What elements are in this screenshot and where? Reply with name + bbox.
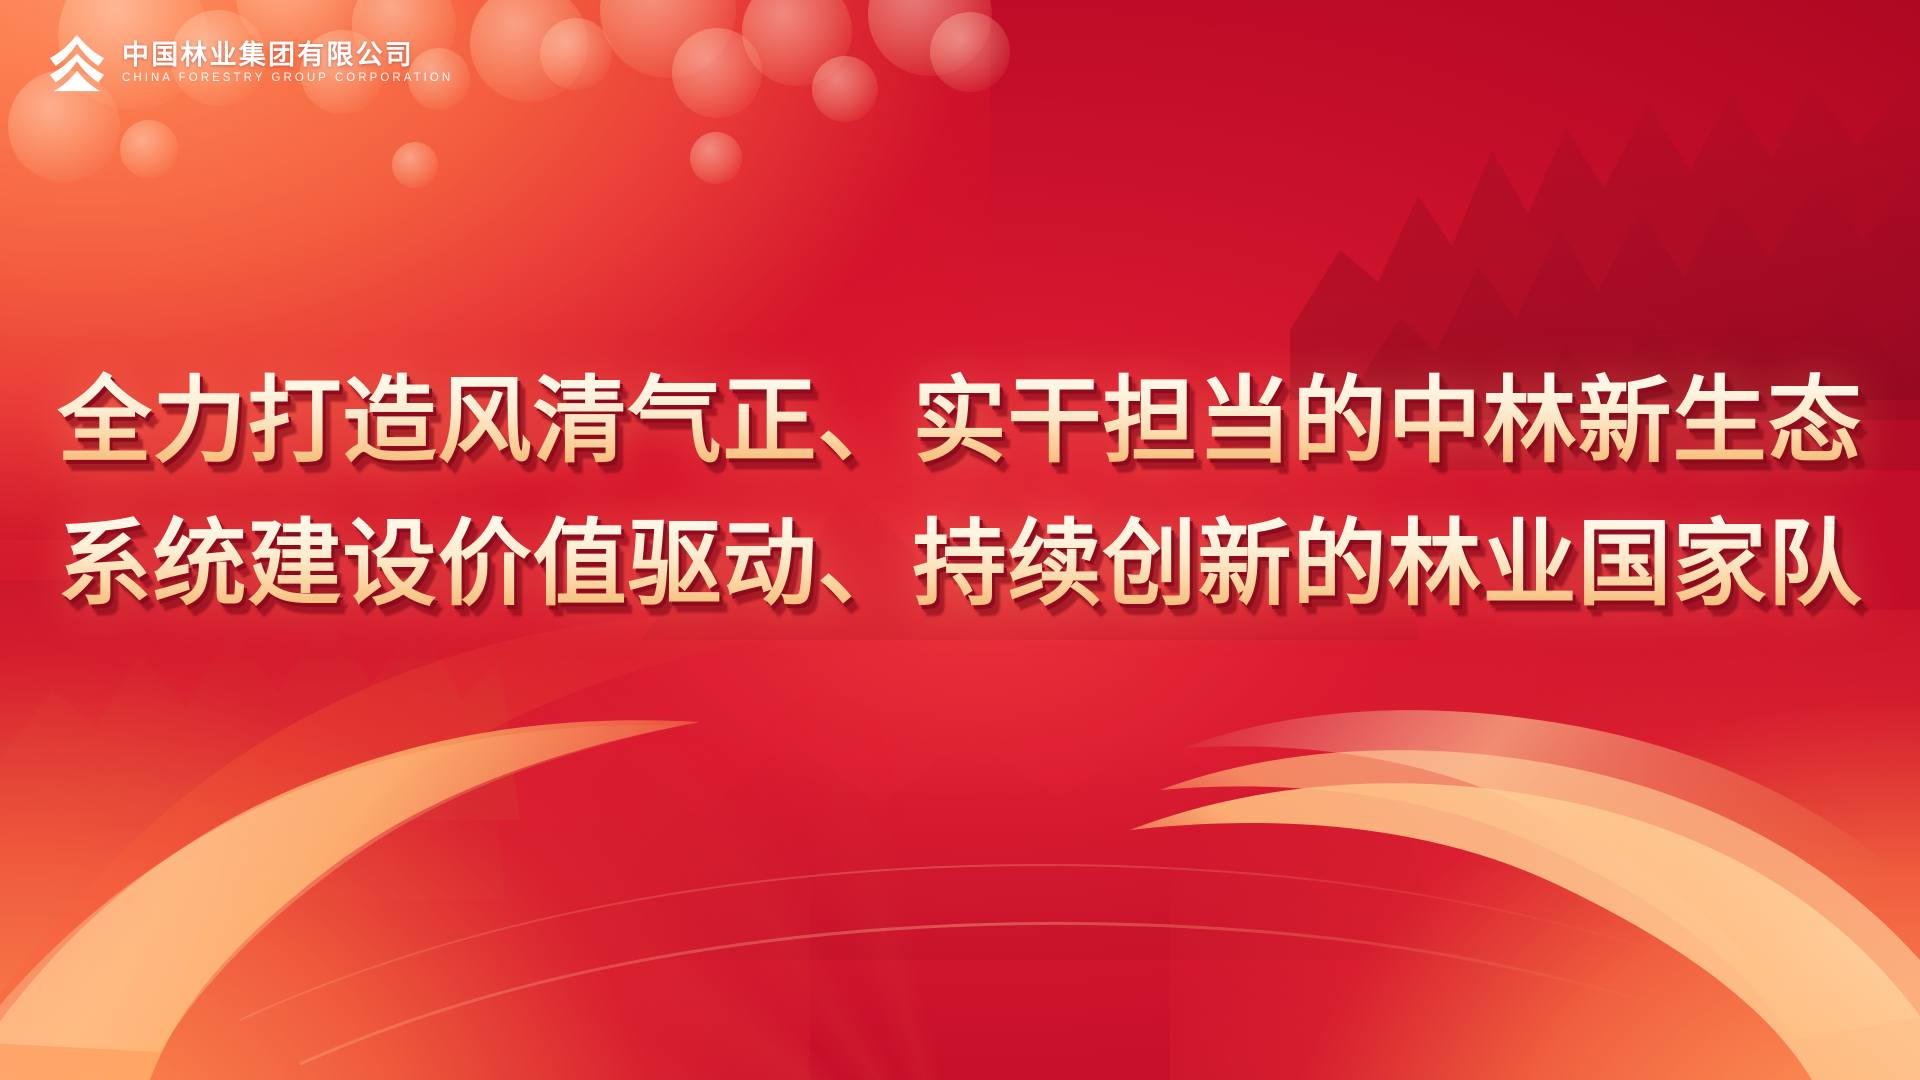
headline-block: 全力打造风清气正、实干担当的中林新生态 系统建设价值驱动、持续创新的林业国家队 xyxy=(0,355,1920,632)
company-name-en: CHINA FORESTRY GROUP CORPORATION xyxy=(122,73,453,85)
company-name-cn: 中国林业集团有限公司 xyxy=(122,42,453,69)
pagoda-chevron-logo-icon xyxy=(46,32,108,94)
headline-line-1: 全力打造风清气正、实干担当的中林新生态 xyxy=(40,355,1880,488)
banner-root: 中国林业集团有限公司 CHINA FORESTRY GROUP CORPORAT… xyxy=(0,0,1920,1080)
brand-logo[interactable]: 中国林业集团有限公司 CHINA FORESTRY GROUP CORPORAT… xyxy=(46,32,453,94)
headline-line-2: 系统建设价值驱动、持续创新的林业国家队 xyxy=(40,498,1880,631)
logo-text-block: 中国林业集团有限公司 CHINA FORESTRY GROUP CORPORAT… xyxy=(122,42,453,85)
